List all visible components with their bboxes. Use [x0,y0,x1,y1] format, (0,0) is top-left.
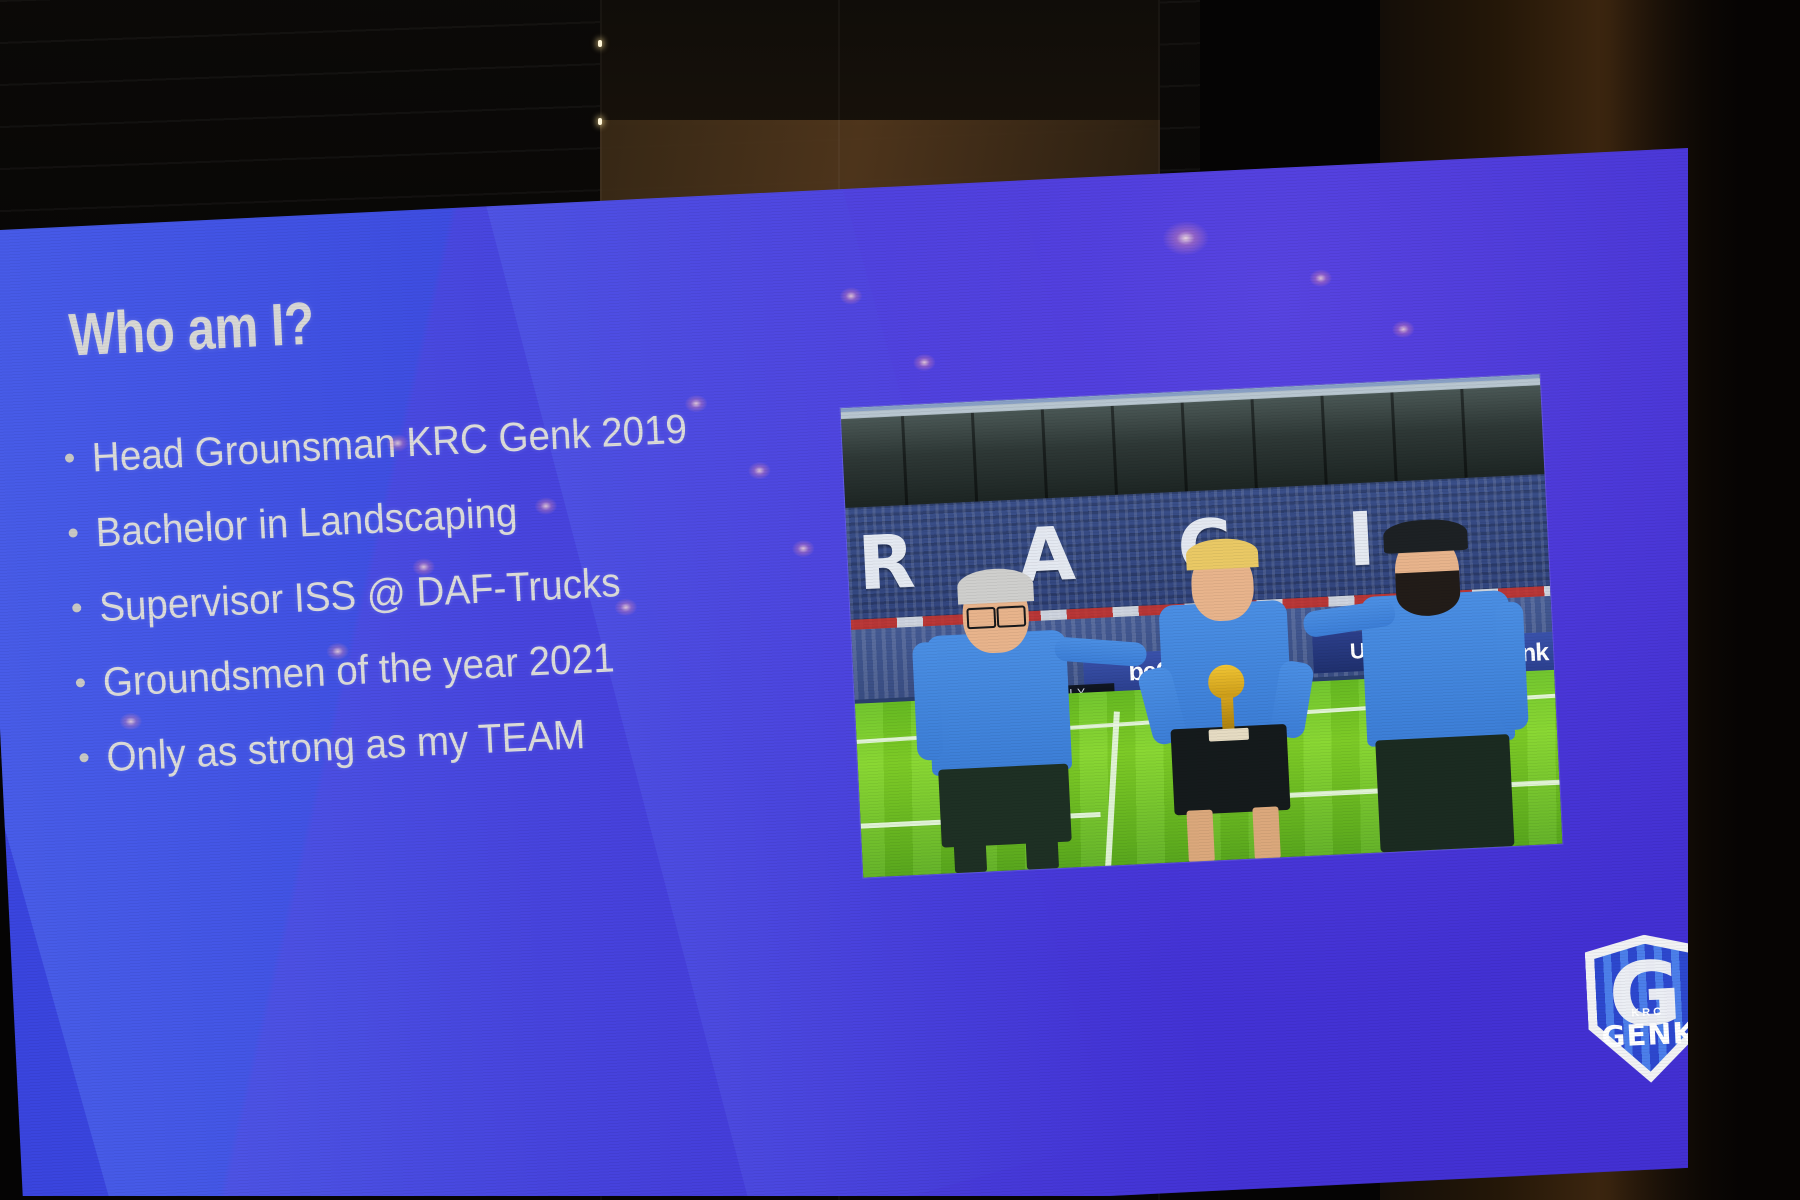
bullet-dot-icon [76,678,85,687]
bullet-text: Head Grounsman KRC Genk 2019 [91,406,688,482]
screen-glare [1162,220,1210,256]
bullet-dot-icon [72,603,81,612]
slide-title: Who am I? [67,289,315,370]
photographed-room-scene: Who am I? Head Grounsman KRC Genk 2019 B… [0,0,1800,1200]
list-item: Head Grounsman KRC Genk 2019 [64,396,885,483]
slide-bullet-list: Head Grounsman KRC Genk 2019 Bachelor in… [64,396,901,810]
list-item: Bachelor in Landscaping [68,471,889,558]
list-item: Groundsmen of the year 2021 [75,621,896,708]
ceiling-led [598,40,602,47]
upper-dark-wall [600,0,1160,125]
bullet-dot-icon [65,453,74,462]
list-item: Only as strong as my TEAM [78,696,899,783]
person-right [1326,493,1543,854]
bullet-dot-icon [68,528,77,537]
ceiling-led [598,118,602,125]
bullet-text: Only as strong as my TEAM [105,711,586,781]
bullet-text: Bachelor in Landscaping [95,489,519,556]
bullet-text: Supervisor ISS @ DAF-Trucks [98,559,621,631]
bullet-text: Groundsmen of the year 2021 [102,634,616,706]
screen-glare [1392,320,1415,338]
list-item: Supervisor ISS @ DAF-Trucks [71,546,892,633]
screen-glare [1309,269,1332,287]
screen-glare [1225,87,1273,123]
person-left [899,536,1105,875]
person-center [1134,511,1321,864]
bullet-dot-icon [79,753,88,762]
slide-photo: R A C I beObank beObank UNO TOTALLY GARD… [840,374,1562,877]
